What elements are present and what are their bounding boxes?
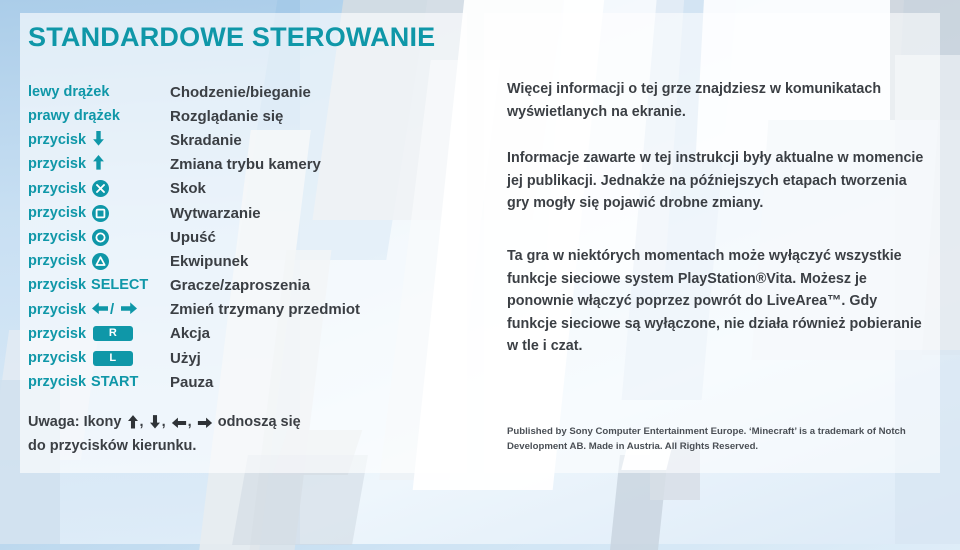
arrow-separator: / [110, 302, 114, 317]
control-key: przycisk R [28, 326, 170, 341]
table-row: przycisk R Akcja [28, 322, 448, 346]
control-key-label: przycisk [28, 327, 86, 342]
arrow-right-icon [197, 415, 213, 436]
table-row: przycisk START Pauza [28, 370, 448, 394]
control-action: Zmień trzymany przedmiot [170, 301, 360, 318]
start-button-label: START [91, 375, 138, 390]
control-key: przycisk [28, 131, 170, 150]
control-key-label: przycisk [28, 230, 86, 245]
table-row: przycisk SELECT Gracze/zaproszenia [28, 274, 448, 298]
table-row: prawy drążek Rozglądanie się [28, 104, 448, 128]
control-action: Ekwipunek [170, 253, 248, 270]
control-action: Skok [170, 180, 206, 197]
note-prefix: Uwaga: Ikony [28, 414, 121, 430]
arrow-right-icon [120, 302, 138, 319]
legal-notice: Published by Sony Computer Entertainment… [507, 424, 907, 454]
table-row: przycisk / Zmień trzymany przedmiot [28, 298, 448, 322]
arrow-left-icon [171, 415, 187, 436]
control-key: przycisk SELECT [28, 278, 170, 293]
arrow-up-icon [127, 415, 139, 436]
control-key-label: przycisk [28, 278, 86, 293]
control-key-label: przycisk [28, 375, 86, 390]
control-key: przycisk [28, 205, 170, 222]
control-key: lewy drążek [28, 85, 170, 100]
control-key-label: prawy drążek [28, 109, 120, 124]
info-paragraph-3: Ta gra w niektórych momentach może wyłąc… [507, 245, 927, 358]
control-key: przycisk [28, 253, 170, 270]
arrow-up-icon [92, 155, 105, 174]
ps-cross-button-icon [92, 180, 109, 197]
control-key: prawy drążek [28, 109, 170, 124]
table-row: przycisk L Użyj [28, 346, 448, 370]
control-action: Rozglądanie się [170, 108, 283, 125]
control-key: przycisk L [28, 351, 170, 366]
control-key: przycisk START [28, 375, 170, 390]
control-key-label: przycisk [28, 351, 86, 366]
control-key-label: lewy drążek [28, 85, 109, 100]
arrow-down-icon [149, 415, 161, 436]
control-action: Pauza [170, 374, 213, 391]
control-action: Wytwarzanie [170, 205, 261, 222]
controls-list: lewy drążek Chodzenie/bieganie prawy drą… [28, 80, 448, 394]
control-key: przycisk [28, 155, 170, 174]
ps-triangle-button-icon [92, 253, 109, 270]
control-key: przycisk [28, 229, 170, 246]
table-row: przycisk Upuść [28, 225, 448, 249]
controls-note: Uwaga: Ikony , , , odnoszą się do przyci… [28, 412, 428, 457]
shoulder-r-button-icon: R [93, 326, 133, 341]
info-paragraph-2: Informacje zawarte w tej instrukcji były… [507, 147, 927, 215]
page-title: STANDARDOWE STEROWANIE [28, 22, 435, 53]
control-key-label: przycisk [28, 157, 86, 172]
control-action: Gracze/zaproszenia [170, 277, 310, 294]
ps-circle-button-icon [92, 229, 109, 246]
table-row: lewy drążek Chodzenie/bieganie [28, 80, 448, 104]
control-action: Skradanie [170, 132, 242, 149]
info-paragraph-1: Więcej informacji o tej grze znajdziesz … [507, 78, 927, 123]
table-row: przycisk Wytwarzanie [28, 201, 448, 225]
table-row: przycisk Ekwipunek [28, 249, 448, 273]
control-key-label: przycisk [28, 254, 86, 269]
control-key: przycisk / [28, 302, 170, 319]
control-key: przycisk [28, 180, 170, 197]
ps-square-button-icon [92, 205, 109, 222]
arrow-down-icon [92, 131, 105, 150]
control-action: Chodzenie/bieganie [170, 84, 311, 101]
table-row: przycisk Skok [28, 177, 448, 201]
table-row: przycisk Skradanie [28, 128, 448, 152]
control-action: Akcja [170, 325, 210, 342]
control-key-label: przycisk [28, 303, 86, 318]
arrow-left-icon [91, 302, 109, 319]
control-action: Zmiana trybu kamery [170, 156, 321, 173]
note-line-2: do przycisków kierunku. [28, 438, 196, 454]
control-action: Upuść [170, 229, 216, 246]
control-action: Użyj [170, 350, 201, 367]
note-middle: odnoszą się [218, 414, 301, 430]
control-key-label: przycisk [28, 182, 86, 197]
page-stage: STANDARDOWE STEROWANIE lewy drążek Chodz… [0, 0, 960, 544]
control-key-label: przycisk [28, 133, 86, 148]
select-button-label: SELECT [91, 278, 148, 293]
shoulder-l-button-icon: L [93, 351, 133, 366]
control-key-label: przycisk [28, 206, 86, 221]
table-row: przycisk Zmiana trybu kamery [28, 153, 448, 177]
